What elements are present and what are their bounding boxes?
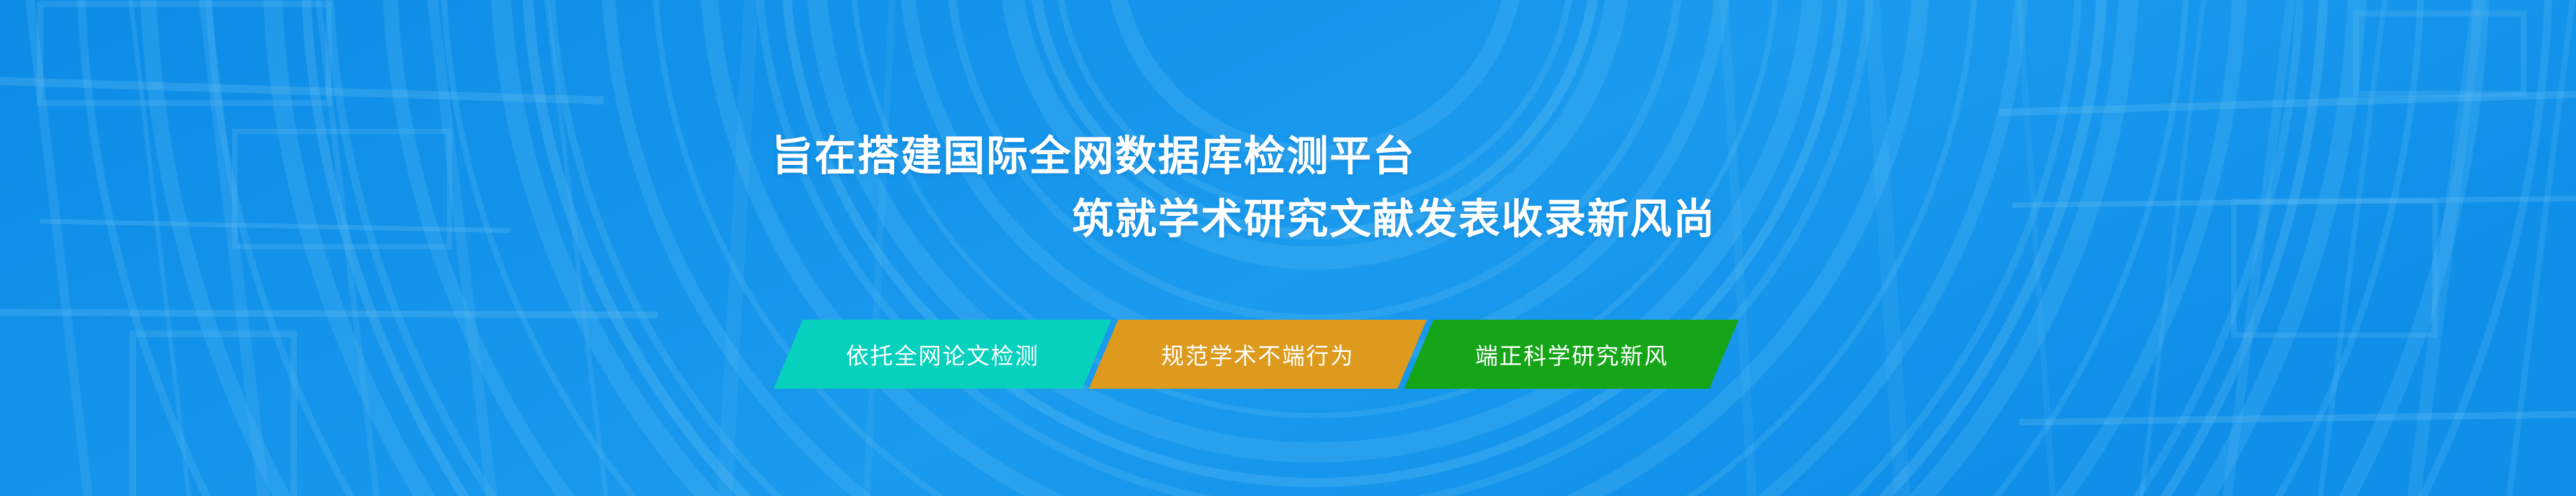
feature-tag-3[interactable]: 端正科学研究新风	[1404, 320, 1739, 389]
promo-banner: 旨在搭建国际全网数据库检测平台 筑就学术研究文献发表收录新风尚 依托全网论文检测…	[0, 0, 2576, 496]
feature-tag-1-label: 依托全网论文检测	[846, 338, 1039, 371]
feature-tag-2[interactable]: 规范学术不端行为	[1089, 320, 1427, 389]
feature-tag-2-label: 规范学术不端行为	[1161, 338, 1354, 371]
feature-tag-strip: 依托全网论文检测 规范学术不端行为 端正科学研究新风	[0, 320, 2576, 391]
feature-tag-3-label: 端正科学研究新风	[1475, 338, 1668, 371]
background-pattern	[0, 0, 2576, 496]
feature-tag-1[interactable]: 依托全网论文检测	[773, 320, 1112, 389]
